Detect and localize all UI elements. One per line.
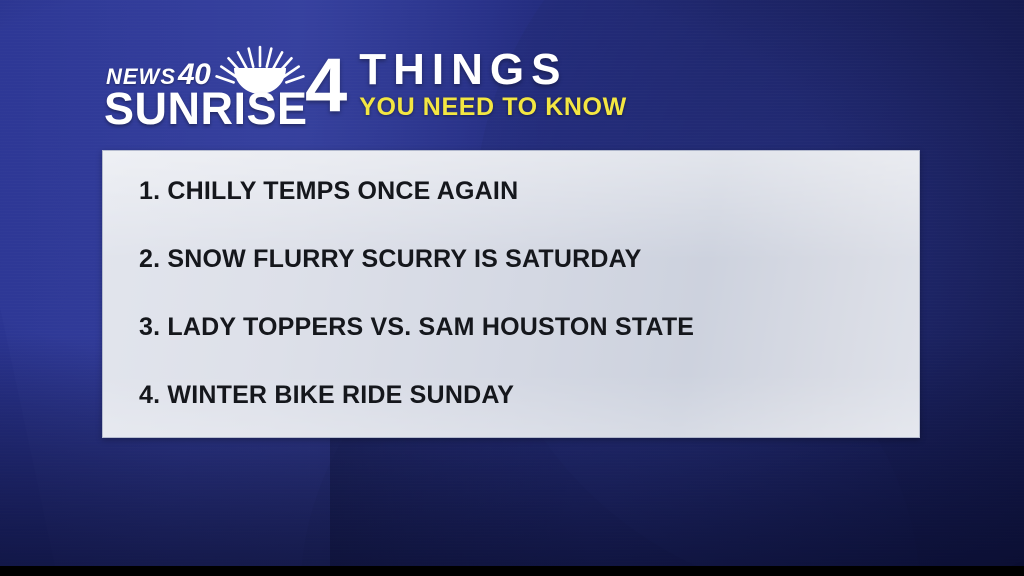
list-item: 4. WINTER BIKE RIDE SUNDAY xyxy=(139,383,901,408)
sunrise-wordmark: SUNRISE xyxy=(104,86,308,131)
list-panel: 1. CHILLY TEMPS ONCE AGAIN 2. SNOW FLURR… xyxy=(102,150,920,438)
station-logo: NEWS 40 xyxy=(104,52,304,138)
letterbox-bottom xyxy=(0,566,1024,576)
headline-title: THINGS xyxy=(359,48,627,93)
list-item: 3. LADY TOPPERS VS. SAM HOUSTON STATE xyxy=(139,315,901,340)
broadcast-graphic-screen: NEWS 40 xyxy=(0,0,1024,576)
headline-count: 4 xyxy=(305,51,345,121)
headline-subtitle: YOU NEED TO KNOW xyxy=(359,94,627,120)
list-items: 1. CHILLY TEMPS ONCE AGAIN 2. SNOW FLURR… xyxy=(139,179,901,408)
list-item: 1. CHILLY TEMPS ONCE AGAIN xyxy=(139,179,901,204)
headline-block: 4 THINGS YOU NEED TO KNOW xyxy=(305,48,705,140)
list-item: 2. SNOW FLURRY SCURRY IS SATURDAY xyxy=(139,247,901,272)
